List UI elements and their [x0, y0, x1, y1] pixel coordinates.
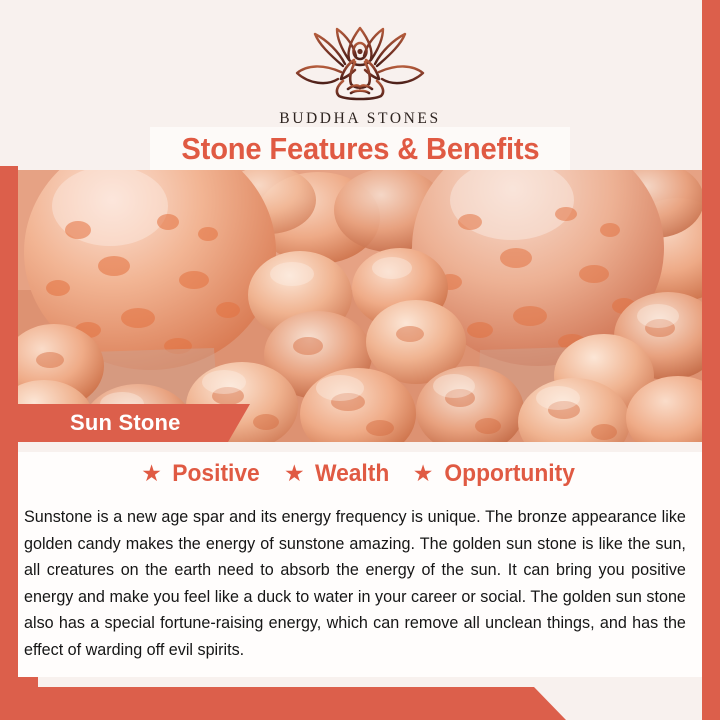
star-icon: ★ — [413, 462, 434, 485]
bottom-left-accent-notch — [0, 677, 38, 687]
description-text: Sunstone is a new age spar and its energ… — [24, 504, 690, 663]
benefit-item: ★ Opportunity — [413, 460, 579, 488]
left-accent-strip — [0, 166, 18, 720]
benefit-item: ★ Wealth — [284, 460, 391, 488]
lotus-meditation-icon — [285, 26, 435, 108]
panel-top-divider — [18, 442, 702, 452]
benefit-label: Positive — [172, 460, 259, 488]
stone-name: Sun Stone — [70, 410, 181, 436]
bottom-accent-bar — [0, 687, 566, 720]
benefit-item: ★ Positive — [141, 460, 262, 488]
benefit-label: Opportunity — [445, 460, 575, 488]
description-panel: ★ Positive ★ Wealth ★ Opportunity Sunsto… — [18, 442, 702, 677]
star-icon: ★ — [141, 462, 162, 485]
star-icon: ★ — [284, 462, 305, 485]
stone-name-ribbon: Sun Stone — [0, 404, 250, 442]
brand-name: BUDDHA STONES — [279, 110, 440, 128]
poster-root: BUDDHA STONES Stone Features & Benefits — [0, 0, 720, 720]
brand-logo: BUDDHA STONES — [18, 26, 702, 128]
stone-photo — [18, 170, 702, 442]
right-accent-strip — [702, 0, 720, 720]
benefit-label: Wealth — [315, 460, 389, 488]
benefits-row: ★ Positive ★ Wealth ★ Opportunity — [18, 460, 702, 488]
title-banner: Stone Features & Benefits — [150, 127, 570, 171]
page-title: Stone Features & Benefits — [181, 131, 539, 167]
